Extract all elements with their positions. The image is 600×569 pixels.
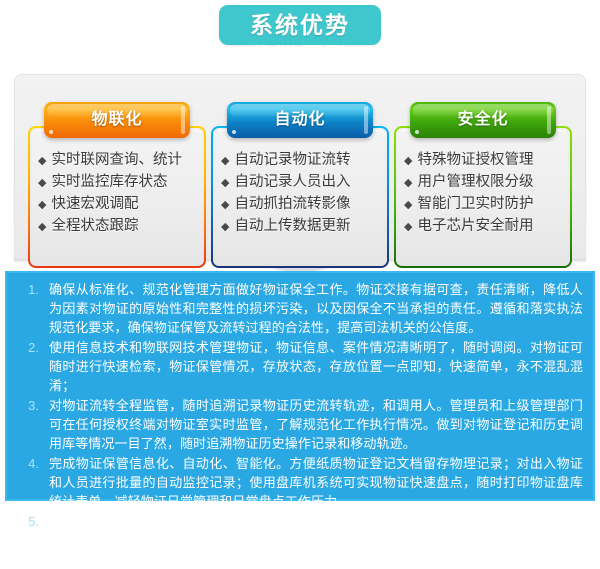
list-item-label: 电子芯片安全耐用	[417, 216, 533, 237]
list-item: ◆电子芯片安全耐用	[404, 216, 564, 238]
feature-card-security[interactable]: 安全化 ◆特殊物证授权管理 ◆用户管理权限分级 ◆智能门卫实时防护 ◆电子芯片安…	[394, 102, 572, 270]
list-item-label: 自动记录人员出入	[234, 172, 350, 193]
card-header-security: 安全化	[410, 102, 556, 138]
details-item-text: 确保从标准化、规范化管理方面做好物证保全工作。物证交接有据可查，责任清晰，降低人…	[49, 280, 583, 337]
details-item-number: 5.	[13, 512, 49, 531]
card-header-label: 物联化	[44, 108, 190, 132]
list-item: ◆自动记录物证流转	[221, 150, 381, 172]
title-reflection-text: 系统优势	[219, 45, 381, 56]
details-section: 1. 确保从标准化、规范化管理方面做好物证保全工作。物证交接有据可查，责任清晰，…	[5, 271, 595, 501]
diamond-bullet-icon: ◆	[404, 173, 412, 194]
list-item-label: 实时联网查询、统计	[51, 150, 182, 171]
list-item: ◆实时联网查询、统计	[38, 150, 198, 172]
title-banner: 系统优势	[219, 5, 381, 45]
details-item-text: 实现物证安全保管和交接，授权出入，安全管理。通过系统智能控制物证的存放与领取，实…	[49, 512, 583, 569]
diamond-bullet-icon: ◆	[404, 217, 412, 238]
details-item-number: 3.	[13, 396, 49, 415]
card-header-iot: 物联化	[44, 102, 190, 138]
list-item: ◆自动记录人员出入	[221, 172, 381, 194]
card-header-label: 自动化	[227, 108, 373, 132]
title-reflection: 系统优势	[219, 45, 381, 61]
feature-card-list: 物联化 ◆实时联网查询、统计 ◆实时监控库存状态 ◆快速宏观调配 ◆全程状态跟踪…	[14, 74, 586, 260]
list-item-label: 全程状态跟踪	[51, 216, 138, 237]
diamond-bullet-icon: ◆	[221, 195, 229, 216]
details-item: 1. 确保从标准化、规范化管理方面做好物证保全工作。物证交接有据可查，责任清晰，…	[13, 280, 583, 337]
details-item-number: 2.	[13, 338, 49, 357]
list-item: ◆特殊物证授权管理	[404, 150, 564, 172]
diamond-bullet-icon: ◆	[38, 195, 46, 216]
details-item: 2. 使用信息技术和物联网技术管理物证，物证信息、案件情况清晰明了，随时调阅。对…	[13, 338, 583, 395]
feature-card-automation[interactable]: 自动化 ◆自动记录物证流转 ◆自动记录人员出入 ◆自动抓拍流转影像 ◆自动上传数…	[211, 102, 389, 270]
list-item-label: 特殊物证授权管理	[417, 150, 533, 171]
list-item-label: 自动上传数据更新	[234, 216, 350, 237]
list-item: ◆全程状态跟踪	[38, 216, 198, 238]
diamond-bullet-icon: ◆	[221, 217, 229, 238]
list-item-label: 用户管理权限分级	[417, 172, 533, 193]
details-item-text: 对物证流转全程监管，随时追溯记录物证历史流转轨迹，和调用人。管理员和上级管理部门…	[49, 396, 583, 453]
list-item-label: 智能门卫实时防护	[417, 194, 533, 215]
diamond-bullet-icon: ◆	[38, 217, 46, 238]
list-item: ◆智能门卫实时防护	[404, 194, 564, 216]
diamond-bullet-icon: ◆	[38, 151, 46, 172]
details-item-text: 完成物证保管信息化、自动化、智能化。方便纸质物证登记文档留存物理记录；对出入物证…	[49, 454, 583, 511]
diamond-bullet-icon: ◆	[221, 173, 229, 194]
page-header: 系统优势 系统优势	[0, 0, 600, 62]
list-item: ◆实时监控库存状态	[38, 172, 198, 194]
details-item: 4. 完成物证保管信息化、自动化、智能化。方便纸质物证登记文档留存物理记录；对出…	[13, 454, 583, 511]
diamond-bullet-icon: ◆	[221, 151, 229, 172]
feature-card-iot[interactable]: 物联化 ◆实时联网查询、统计 ◆实时监控库存状态 ◆快速宏观调配 ◆全程状态跟踪	[28, 102, 206, 270]
details-item-text: 使用信息技术和物联网技术管理物证，物证信息、案件情况清晰明了，随时调阅。对物证可…	[49, 338, 583, 395]
card-header-automation: 自动化	[227, 102, 373, 138]
list-item-label: 实时监控库存状态	[51, 172, 167, 193]
details-item-number: 1.	[13, 280, 49, 299]
list-item: ◆快速宏观调配	[38, 194, 198, 216]
list-item-label: 快速宏观调配	[51, 194, 138, 215]
card-bullet-list: ◆实时联网查询、统计 ◆实时监控库存状态 ◆快速宏观调配 ◆全程状态跟踪	[38, 150, 198, 238]
diamond-bullet-icon: ◆	[404, 151, 412, 172]
card-bullet-list: ◆特殊物证授权管理 ◆用户管理权限分级 ◆智能门卫实时防护 ◆电子芯片安全耐用	[404, 150, 564, 238]
card-header-label: 安全化	[410, 108, 556, 132]
list-item: ◆用户管理权限分级	[404, 172, 564, 194]
details-list: 1. 确保从标准化、规范化管理方面做好物证保全工作。物证交接有据可查，责任清晰，…	[13, 280, 583, 569]
details-item: 3. 对物证流转全程监管，随时追溯记录物证历史流转轨迹，和调用人。管理员和上级管…	[13, 396, 583, 453]
list-item: ◆自动抓拍流转影像	[221, 194, 381, 216]
card-bullet-list: ◆自动记录物证流转 ◆自动记录人员出入 ◆自动抓拍流转影像 ◆自动上传数据更新	[221, 150, 381, 238]
page-title: 系统优势	[219, 10, 381, 40]
list-item: ◆自动上传数据更新	[221, 216, 381, 238]
diamond-bullet-icon: ◆	[404, 195, 412, 216]
diamond-bullet-icon: ◆	[38, 173, 46, 194]
details-item: 5. 实现物证安全保管和交接，授权出入，安全管理。通过系统智能控制物证的存放与领…	[13, 512, 583, 569]
details-item-number: 4.	[13, 454, 49, 473]
list-item-label: 自动抓拍流转影像	[234, 194, 350, 215]
list-item-label: 自动记录物证流转	[234, 150, 350, 171]
